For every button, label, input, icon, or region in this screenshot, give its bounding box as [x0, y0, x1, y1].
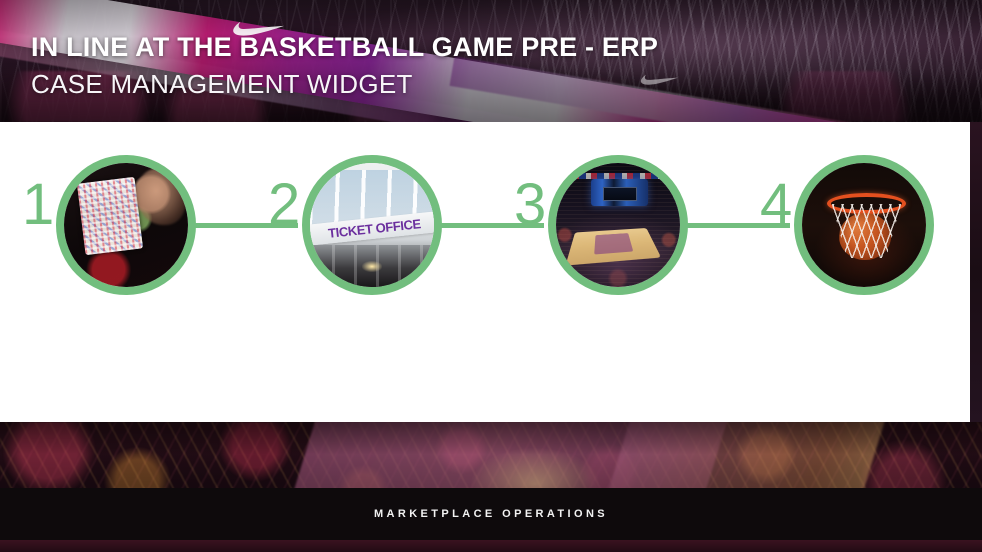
hand-shape	[136, 168, 186, 225]
step-number-1: 1	[22, 176, 53, 234]
header-photo-banner: IN LINE AT THE BASKETBALL GAME PRE - ERP…	[0, 0, 982, 122]
phone-screen	[77, 177, 144, 255]
step-image-1[interactable]	[56, 155, 196, 295]
building-lamp	[362, 261, 382, 272]
right-edge-strip	[970, 122, 982, 422]
step-number-4: 4	[760, 176, 791, 234]
basketball-arena-interior-photo	[556, 163, 680, 287]
step-number-2: 2	[268, 176, 299, 234]
process-panel: 1 TICKET ISSUE - GO SEE TICKETING Orches…	[0, 122, 970, 422]
footer-label: MARKETPLACE OPERATIONS	[374, 508, 608, 520]
header-titles: IN LINE AT THE BASKETBALL GAME PRE - ERP…	[31, 33, 658, 99]
jumbotron-icon	[591, 179, 648, 206]
fan-holding-phone-photo	[64, 163, 188, 287]
step-image-3[interactable]	[548, 155, 688, 295]
slide-canvas: IN LINE AT THE BASKETBALL GAME PRE - ERP…	[0, 0, 982, 552]
step-image-2[interactable]: TICKET OFFICE	[302, 155, 442, 295]
footer-bar: MARKETPLACE OPERATIONS	[0, 488, 982, 540]
step-image-4[interactable]	[794, 155, 934, 295]
basketball-hoop-net-photo	[802, 163, 926, 287]
page-subtitle: CASE MANAGEMENT WIDGET	[31, 70, 658, 99]
process-rail: 1 TICKET ISSUE - GO SEE TICKETING Orches…	[0, 122, 970, 422]
step-number-3: 3	[514, 176, 545, 234]
page-title: IN LINE AT THE BASKETBALL GAME PRE - ERP	[31, 33, 658, 63]
ticket-office-building-photo: TICKET OFFICE	[310, 163, 434, 287]
hoop-net-icon	[832, 204, 901, 259]
bottom-edge-strip	[0, 540, 982, 552]
